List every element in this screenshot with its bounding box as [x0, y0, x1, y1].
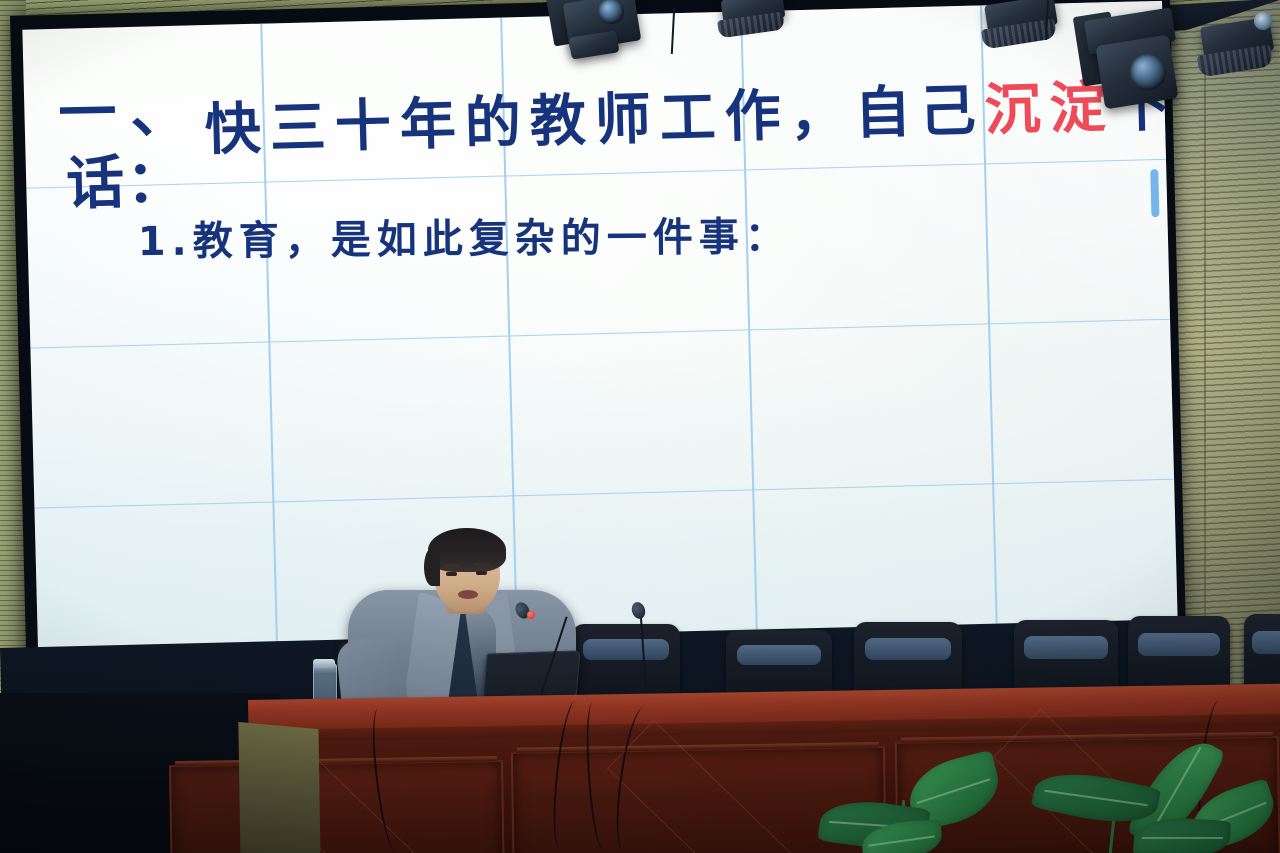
- lecture-hall-photo: 一、 快三十年的教师工作，自己沉淀下来的 话： 1.教育，是如此复杂的一件事：: [0, 0, 1280, 853]
- presenter-brow-left: [444, 564, 460, 567]
- presenter-eye-left: [446, 572, 457, 576]
- par-light-center: [712, 0, 792, 54]
- water-bottle-cap[interactable]: [313, 659, 335, 668]
- videowall-screen[interactable]: 一、 快三十年的教师工作，自己沉淀下来的 话： 1.教育，是如此复杂的一件事：: [22, 1, 1178, 666]
- scrollbar-thumb[interactable]: [1150, 169, 1159, 217]
- slide-bullet-1: 1.教育，是如此复杂的一件事：: [137, 204, 790, 267]
- chair-mesh: [1024, 636, 1107, 658]
- chair-mesh: [1138, 633, 1220, 656]
- presenter-brow-right: [474, 563, 490, 566]
- moving-head-light-right: [1078, 0, 1188, 120]
- podium-panel-1: [169, 760, 505, 853]
- par-light-far-right: [1196, 16, 1280, 96]
- par-light-right-a: [978, 0, 1070, 66]
- chair-mesh: [737, 645, 822, 665]
- podium-side-return: [238, 722, 320, 853]
- microphone-indicator: [527, 611, 535, 619]
- chair-mesh: [865, 638, 951, 660]
- chair-mesh: [1252, 631, 1280, 654]
- wooden-podium: [248, 684, 1280, 853]
- slide-content: 一、 快三十年的教师工作，自己沉淀下来的 话： 1.教育，是如此复杂的一件事：: [22, 1, 1178, 666]
- presenter-eye-right: [476, 571, 487, 575]
- slide-heading-main: 快三十年的教师工作，自己沉淀下来的: [204, 57, 1178, 166]
- slide-heading-main-text: 快三十年的教师工作，: [204, 82, 855, 163]
- slide-heading-self: 自己: [854, 78, 986, 146]
- presenter-mouth: [458, 590, 478, 599]
- presenter-hair-side: [424, 548, 440, 586]
- moving-head-light-left: [546, 0, 642, 62]
- slide-heading-line2: 话：: [65, 134, 187, 221]
